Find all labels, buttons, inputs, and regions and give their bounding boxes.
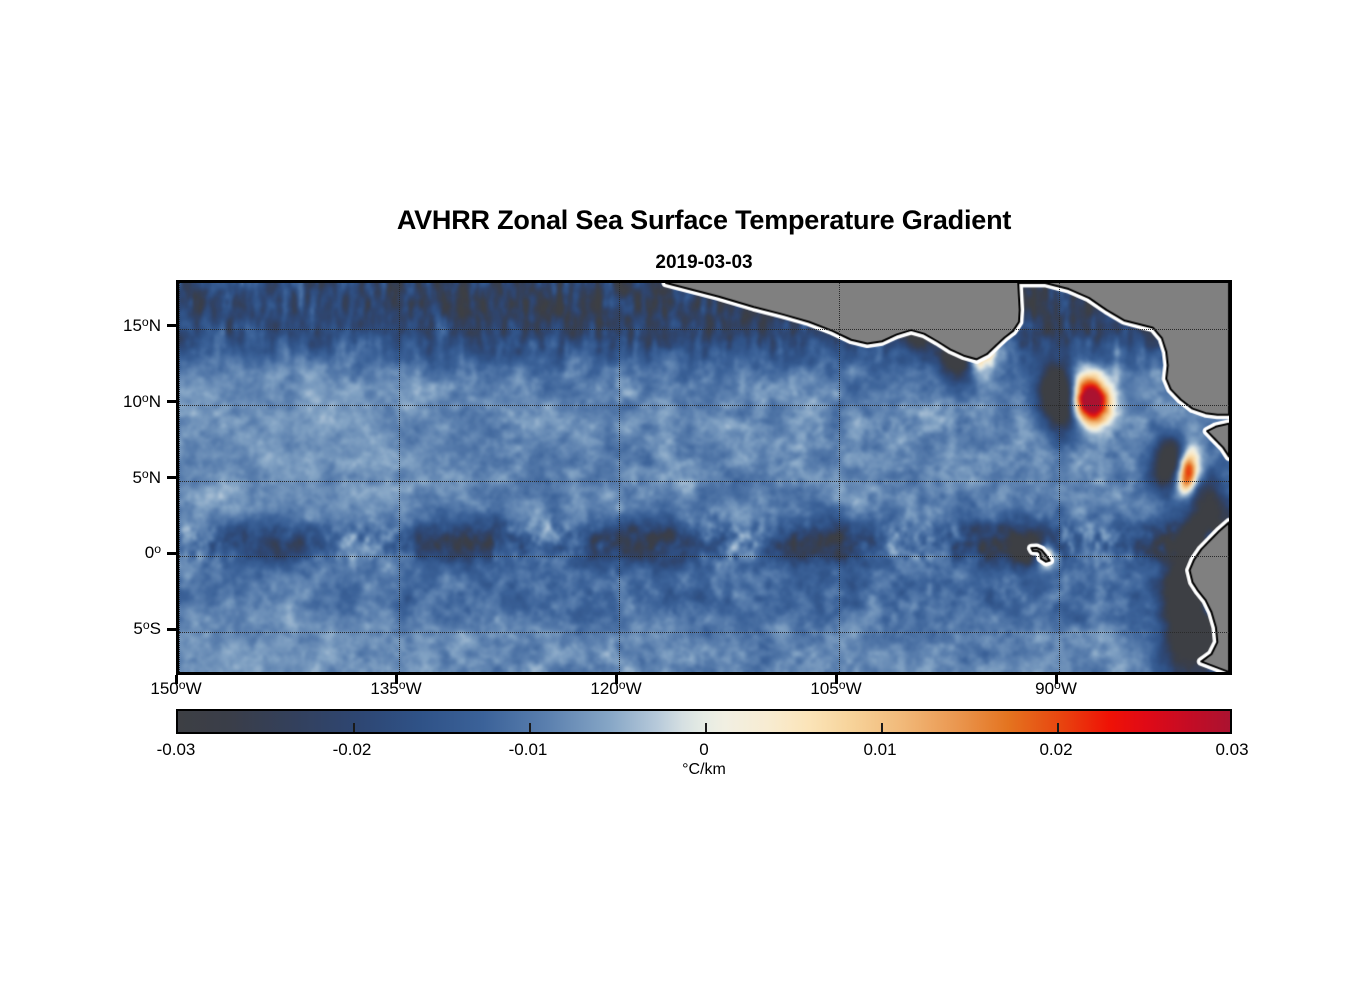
y-axis-tick: [167, 400, 176, 403]
x-axis-tick-label: 105oW: [810, 679, 861, 699]
colorbar-tick: [1057, 723, 1059, 732]
colorbar-tick-label: -0.01: [509, 740, 548, 760]
map-plot-area[interactable]: [176, 280, 1232, 675]
y-axis-tick: [167, 552, 176, 555]
y-axis-tick-label: 10oN: [123, 392, 161, 412]
y-axis-tick-label: 5oN: [132, 468, 161, 488]
x-axis-tick-label: 90oW: [1035, 679, 1077, 699]
colorbar-tick-label: -0.02: [333, 740, 372, 760]
y-axis-tick-label: 0o: [145, 543, 161, 563]
colorbar-tick: [881, 723, 883, 732]
page-title: AVHRR Zonal Sea Surface Temperature Grad…: [176, 205, 1232, 236]
x-axis-tick-label: 135oW: [370, 679, 421, 699]
colorbar-tick-label: 0.02: [1039, 740, 1072, 760]
colorbar-tick-label: 0: [699, 740, 708, 760]
colorbar-tick: [705, 723, 707, 732]
colorbar-tick: [529, 723, 531, 732]
colorbar-tick: [353, 723, 355, 732]
y-axis-tick: [167, 476, 176, 479]
y-axis-tick-label: 5oS: [133, 619, 161, 639]
colorbar-unit-label: °C/km: [176, 761, 1232, 779]
x-axis-tick-label: 120oW: [590, 679, 641, 699]
colorbar-tick-label: -0.03: [157, 740, 196, 760]
colorbar-tick-label: 0.03: [1215, 740, 1248, 760]
colorbar[interactable]: [176, 709, 1232, 734]
y-axis-tick: [167, 628, 176, 631]
y-axis-tick: [167, 324, 176, 327]
colorbar-tick-label: 0.01: [863, 740, 896, 760]
sst-gradient-heatmap: [179, 283, 1229, 672]
figure-canvas: AVHRR Zonal Sea Surface Temperature Grad…: [0, 0, 1356, 1000]
y-axis-tick-label: 15oN: [123, 316, 161, 336]
x-axis-tick-label: 150oW: [150, 679, 201, 699]
figure-subtitle-date: 2019-03-03: [176, 252, 1232, 274]
